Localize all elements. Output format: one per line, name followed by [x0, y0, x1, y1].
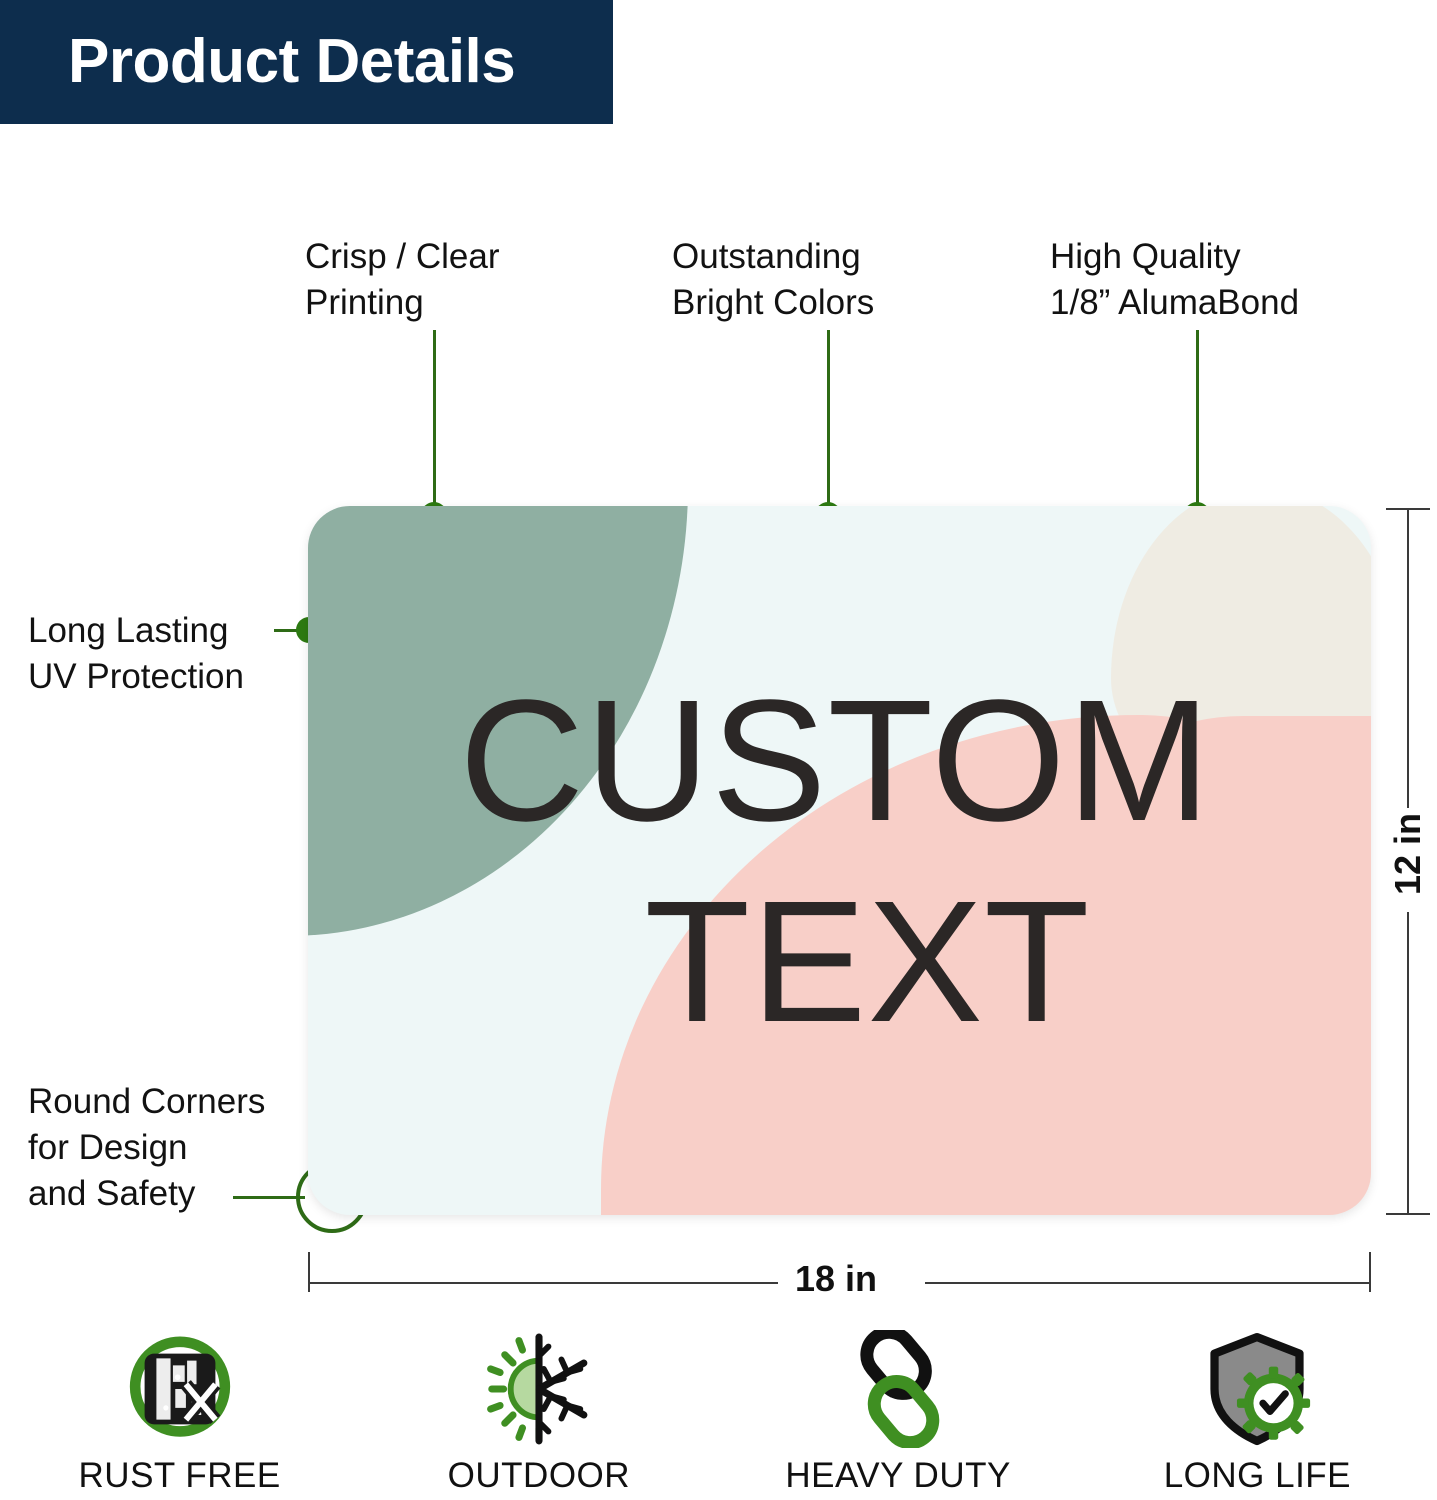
- outdoor-sun-snowflake-icon: [476, 1330, 601, 1448]
- dimension-line-width-right: [925, 1282, 1371, 1284]
- leader-line-round-corners: [233, 1196, 305, 1199]
- callout-label-crisp-clear-printing: Crisp / Clear Printing: [305, 234, 499, 326]
- callout-label-long-lasting-uv-protection: Long Lasting UV Protection: [28, 608, 244, 700]
- product-details-infographic: Product Details Crisp / Clear Printing O…: [0, 0, 1437, 1500]
- callout-label-round-corners: Round Corners for Design and Safety: [28, 1079, 265, 1218]
- callout-label-high-quality-alumabond: High Quality 1/8” AlumaBond: [1050, 234, 1299, 326]
- badge-label-rust-free: RUST FREE: [79, 1456, 281, 1496]
- badge-outdoor: OUTDOOR: [359, 1330, 718, 1500]
- dimension-label-width: 18 in: [795, 1258, 877, 1300]
- dimension-line-width-left: [308, 1282, 778, 1284]
- badge-heavy-duty: HEAVY DUTY: [719, 1330, 1078, 1500]
- dimension-tick-bottom: [1386, 1213, 1430, 1215]
- dimension-line-height-upper: [1407, 508, 1409, 808]
- leader-line-outstanding-bright-colors: [827, 330, 830, 510]
- sign-text-line-1: CUSTOM: [459, 660, 1212, 861]
- heavy-duty-chain-icon: [836, 1330, 961, 1448]
- leader-line-crisp-clear-printing: [433, 330, 436, 510]
- badge-long-life: LONG LIFE: [1078, 1330, 1437, 1500]
- badge-rust-free: RUST FREE: [0, 1330, 359, 1500]
- callout-label-outstanding-bright-colors: Outstanding Bright Colors: [672, 234, 874, 326]
- sign-preview[interactable]: CUSTOM TEXT: [308, 506, 1371, 1215]
- badge-label-long-life: LONG LIFE: [1164, 1456, 1351, 1496]
- dimension-line-height-lower: [1407, 912, 1409, 1214]
- badge-label-outdoor: OUTDOOR: [448, 1456, 630, 1496]
- badge-label-heavy-duty: HEAVY DUTY: [785, 1456, 1010, 1496]
- rust-free-icon: [117, 1330, 242, 1448]
- dimension-label-height: 12 in: [1387, 823, 1429, 895]
- leader-line-high-quality-alumabond: [1196, 330, 1199, 510]
- header-banner: Product Details: [0, 0, 613, 124]
- sign-text-line-2: TEXT: [644, 861, 1090, 1062]
- dimension-tick-right: [1369, 1252, 1371, 1292]
- feature-badges: RUST FREE: [0, 1330, 1437, 1500]
- dimension-tick-left: [308, 1252, 310, 1292]
- sign-text-block: CUSTOM TEXT: [308, 506, 1371, 1215]
- page-title: Product Details: [68, 31, 515, 93]
- long-life-shield-icon: [1195, 1330, 1320, 1448]
